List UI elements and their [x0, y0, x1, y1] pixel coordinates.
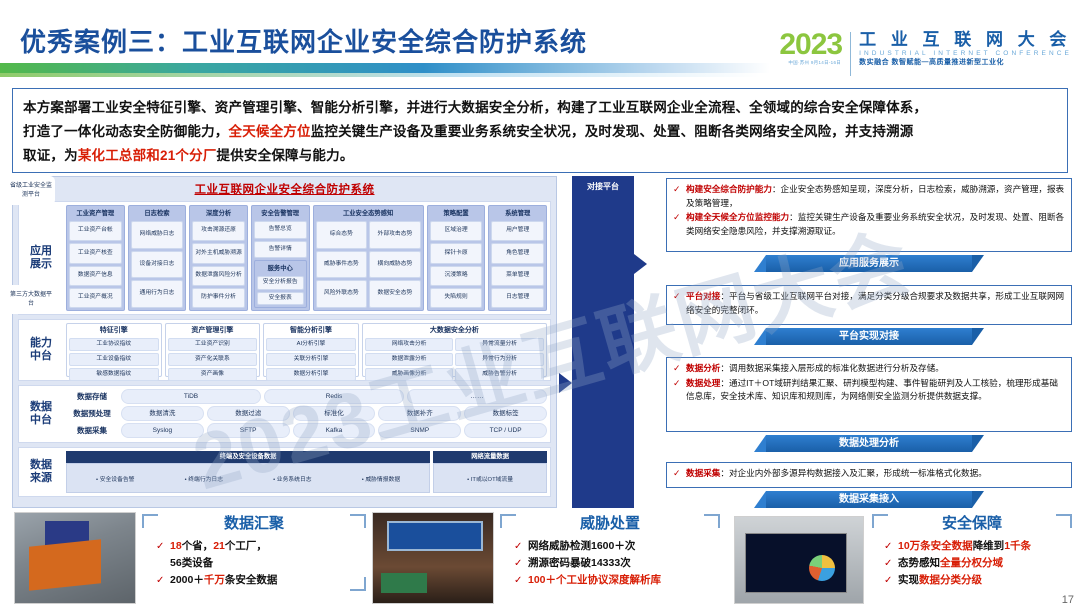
card-bullet: ✓18个省，21个工厂， — [156, 538, 366, 555]
check-icon: ✓ — [884, 538, 893, 555]
data-row-storage: 数据存储 TiDB Redis …… — [66, 389, 547, 404]
bottom-card-threat-handling: 威胁处置 ✓网络威胁检测1600＋次 ✓溯源密码暴破14333次 ✓100＋个工… — [372, 512, 720, 608]
cell[interactable]: 数据补齐 — [378, 406, 461, 421]
panel-banner-data-collection: 数据采集接入 — [766, 491, 972, 508]
card-bullet: ✓网络威胁检测1600＋次 — [514, 538, 720, 555]
check-icon: ✓ — [673, 290, 682, 317]
photo-control-room — [372, 512, 494, 604]
layer-label-data-platform: 数据中台 — [19, 386, 63, 442]
abstract-highlight-2: 某化工总部和21个分厂 — [78, 148, 217, 163]
right-panel-3: ✓ 数据分析：调用数据采集接入层形成的标准化数据进行分析及存储。 ✓ 数据处理：… — [666, 357, 1072, 452]
docking-platform-column: 对接平台 — [572, 176, 634, 508]
abstract-line-2: 打造了一体化动态安全防御能力，全天候全方位监控关键生产设备及重要业务系统安全状况… — [23, 120, 1057, 144]
cell[interactable]: 菜单管理 — [491, 266, 544, 286]
cell[interactable]: …… — [407, 389, 547, 404]
bracket-top-right — [350, 514, 366, 528]
cell[interactable]: 设备对接日志 — [131, 251, 184, 279]
docking-card-thirdparty[interactable]: 第三方大数据平台 — [7, 285, 55, 314]
card-bullet: ✓溯源密码暴破14333次 — [514, 555, 720, 572]
layer-capability-platform: 能力中台 特征引擎 工业协议指纹 工业设备指纹 敏感数据指纹 资产管理引擎 工业… — [18, 319, 551, 381]
group-bigdata-security-analysis: 大数据安全分析 网络攻击分析 数据泄露分析 威胁画像分析 异常流量分析 异常行为… — [362, 323, 547, 377]
cell[interactable]: 敏感数据指纹 — [69, 368, 159, 381]
group-deep-analysis: 深度分析 攻击溯源还原 对外主机威胁溯源 数据泄露风险分析 防护事件分析 — [189, 205, 248, 311]
check-icon: ✓ — [673, 377, 682, 404]
cell[interactable]: 告警总览 — [254, 221, 307, 239]
source-group-network-traffic: 网络流量数据 IT或以OT域流量 — [433, 451, 547, 493]
photo-video-wall — [734, 516, 864, 604]
card-bullet: ✓10万条安全数据降维到1千条 — [884, 538, 1072, 555]
cell[interactable]: 区域治理 — [430, 221, 483, 241]
bullet-item: ✓ 构建安全综合防护能力：企业安全态势感知呈现，深度分析，日志检索，威胁溯源，资… — [673, 183, 1065, 210]
group-asset-management: 工业资产管理 工业资产台帐 工业资产核查 数据资产信息 工业资产概况 — [66, 205, 125, 311]
check-icon: ✓ — [673, 362, 682, 376]
card-bullet: ✓态势感知全量分权分域 — [884, 555, 1072, 572]
cell[interactable]: 网络攻击分析 — [365, 338, 454, 351]
diagram-title: 工业互联网企业安全综合防护系统 — [13, 177, 556, 197]
check-icon: ✓ — [884, 555, 893, 572]
cell[interactable]: 安全分析报告 — [257, 276, 304, 289]
cell[interactable]: 外部攻击态势 — [369, 221, 421, 249]
right-panel-1: ✓ 构建安全综合防护能力：企业安全态势感知呈现，深度分析，日志检索，威胁溯源，资… — [666, 178, 1072, 272]
card-bullet: ✓2000＋千万条安全数据 — [156, 572, 366, 589]
right-panel-4: ✓ 数据采集：对企业内外部多源异构数据接入及汇聚，形成统一标准格式化数据。 数据… — [666, 462, 1072, 508]
layer-label-capability: 能力中台 — [19, 320, 63, 380]
check-icon: ✓ — [514, 538, 523, 555]
cell[interactable]: 防护事件分析 — [192, 288, 245, 308]
group-system-management: 系统管理 用户管理 角色管理 菜单管理 日志管理 — [488, 205, 547, 311]
bracket-top-left — [872, 514, 888, 528]
cell[interactable]: 角色管理 — [491, 243, 544, 263]
cell[interactable]: 异常流量分析 — [455, 338, 544, 351]
cell[interactable]: 数据分析引擎 — [266, 368, 356, 381]
abstract-box: 本方案部署工业安全特征引擎、资产管理引擎、智能分析引擎，并进行大数据安全分析，构… — [12, 88, 1068, 173]
group-intelligent-analysis-engine: 智能分析引擎 AI分析引擎 关联分析引擎 数据分析引擎 — [263, 323, 359, 377]
cell[interactable]: 数据清洗 — [121, 406, 204, 421]
panel-banner-data-processing: 数据处理分析 — [766, 435, 972, 452]
group-asset-engine: 资产管理引擎 工业资产识别 资产化关联系 资产画像 — [165, 323, 261, 377]
bracket-top-right — [704, 514, 720, 528]
group-feature-engine: 特征引擎 工业协议指纹 工业设备指纹 敏感数据指纹 — [66, 323, 162, 377]
card-bullet: ✓实现数据分类分级 — [884, 572, 1072, 589]
layer-label-data-sources: 数据来源 — [19, 448, 63, 496]
cell[interactable]: 工业资产概况 — [69, 288, 122, 308]
check-icon: ✓ — [514, 572, 523, 589]
abstract-line-1: 本方案部署工业安全特征引擎、资产管理引擎、智能分析引擎，并进行大数据安全分析，构… — [23, 96, 1057, 120]
card-bullet: ✓100＋个工业协议深度解析库 — [514, 572, 720, 589]
cell[interactable]: 对外主机威胁溯源 — [192, 243, 245, 263]
group-situation-awareness: 工业安全态势感知 综合态势 威胁事件态势 风险外联态势 外部攻击态势 横向威胁态… — [313, 205, 424, 311]
cell[interactable]: 威胁事件态势 — [316, 251, 368, 279]
cell[interactable]: 数据安全态势 — [369, 280, 421, 308]
cell[interactable]: 通用行为日志 — [131, 280, 184, 308]
cell[interactable]: Syslog — [121, 423, 204, 438]
data-row-preprocess: 数据预处理 数据清洗 数据过滤 标准化 数据补齐 数据标签 — [66, 406, 547, 421]
logo-divider — [850, 32, 851, 76]
logo-year-subtitle: 中国·苏州 9月14日-16日 — [779, 60, 850, 66]
cell[interactable]: 用户管理 — [491, 221, 544, 241]
bullet-item: ✓ 数据采集：对企业内外部多源异构数据接入及汇聚，形成统一标准格式化数据。 — [673, 467, 1065, 481]
page-number: 17 — [1062, 594, 1074, 606]
data-row-collect: 数据采集 Syslog SFTP Kafka SNMP TCP / UDP — [66, 423, 547, 438]
right-panel-2: ✓ 平台对接：平台与省级工业互联网平台对接，满足分类分级合规要求及数据共享，形成… — [666, 285, 1072, 345]
cell[interactable]: 综合态势 — [316, 221, 368, 249]
layer-data-sources: 数据来源 终端及安全设备数据 安全设备告警 终端行为日志 业务系统日志 威胁情报… — [18, 447, 551, 497]
check-icon: ✓ — [884, 572, 893, 589]
logo-title-en: INDUSTRIAL INTERNET CONFERENCE — [859, 49, 1072, 58]
cell[interactable]: 资产画像 — [168, 368, 258, 381]
bracket-bottom-right — [350, 577, 366, 591]
cell[interactable]: 威胁告警分析 — [455, 368, 544, 381]
cell[interactable]: SNMP — [378, 423, 461, 438]
arrow-left-icon — [559, 373, 572, 393]
cell[interactable]: 工业资产台帐 — [69, 221, 122, 241]
header-rule-gradient — [0, 63, 770, 73]
bullet-item: ✓ 数据分析：调用数据采集接入层形成的标准化数据进行分析及存储。 — [673, 362, 1065, 376]
docking-platform-header: 对接平台 — [572, 176, 634, 192]
cell[interactable]: 工业资产识别 — [168, 338, 258, 351]
cell[interactable]: 标准化 — [293, 406, 376, 421]
cell[interactable]: 威胁画像分析 — [365, 368, 454, 381]
page-title: 优秀案例三：工业互联网企业安全综合防护系统 — [20, 22, 587, 59]
layer-application-display: 应用展示 工业资产管理 工业资产台帐 工业资产核查 数据资产信息 工业资产概况 … — [18, 201, 551, 315]
group-policy-config: 策略配置 区域治理 探针卡原 沉浸策略 失陷规则 — [427, 205, 486, 311]
cell[interactable]: 资产化关联系 — [168, 353, 258, 366]
source-item[interactable]: 威胁情报数据 — [362, 474, 400, 483]
card-title: 数据汇聚 — [142, 514, 366, 534]
layer-data-platform: 数据中台 数据存储 TiDB Redis …… 数据预处理 数据清洗 数据过滤 … — [18, 385, 551, 443]
source-item[interactable]: 业务系统日志 — [273, 474, 311, 483]
check-icon: ✓ — [156, 572, 165, 589]
cell[interactable]: 探针卡原 — [430, 243, 483, 263]
bullet-item: ✓ 平台对接：平台与省级工业互联网平台对接，满足分类分级合规要求及数据共享，形成… — [673, 290, 1065, 317]
page-header: 优秀案例三：工业互联网企业安全综合防护系统 2023 中国·苏州 9月14日-1… — [0, 0, 1080, 88]
source-item[interactable]: IT或以OT域流量 — [467, 474, 513, 483]
cell[interactable]: 沉浸策略 — [430, 266, 483, 286]
cell[interactable]: 异常行为分析 — [455, 353, 544, 366]
logo-year: 2023 — [779, 30, 850, 60]
cell[interactable]: 日志管理 — [491, 288, 544, 308]
bottom-card-data-aggregation: 数据汇聚 ✓18个省，21个工厂， ✓56类设备 ✓2000＋千万条安全数据 — [14, 512, 366, 608]
card-title: 威胁处置 — [500, 514, 720, 534]
photo-factory-robot — [14, 512, 136, 604]
source-item[interactable]: 安全设备告警 — [96, 474, 134, 483]
architecture-diagram: 工业互联网企业安全综合防护系统 应用展示 工业资产管理 工业资产台帐 工业资产核… — [12, 176, 557, 508]
cell[interactable]: 工业协议指纹 — [69, 338, 159, 351]
cell[interactable]: SFTP — [207, 423, 290, 438]
check-icon: ✓ — [673, 467, 682, 481]
cell[interactable]: Redis — [264, 389, 404, 404]
cell[interactable]: 数据过滤 — [207, 406, 290, 421]
cell[interactable]: Kafka — [293, 423, 376, 438]
cell[interactable]: 工业设备指纹 — [69, 353, 159, 366]
check-icon: ✓ — [156, 538, 165, 555]
cell[interactable]: 告警详情 — [254, 241, 307, 259]
cell[interactable]: 攻击溯源还原 — [192, 221, 245, 241]
cell[interactable]: 数据标签 — [464, 406, 547, 421]
abstract-highlight-1: 全天候全方位 — [229, 124, 311, 139]
group-alarm-management: 安全告警管理 告警总览 告警详情 服务中心 安全分析报告 安全报表 — [251, 205, 310, 311]
logo-tagline: 数实融合 数智赋能—高质量推进新型工业化 — [859, 58, 1072, 68]
bullet-item: ✓ 构建全天候全方位监控能力：监控关键生产设备及重要业务系统安全状况，及时发现、… — [673, 211, 1065, 238]
cell[interactable]: 关联分析引擎 — [266, 353, 356, 366]
bracket-top-left — [142, 514, 158, 528]
card-title: 安全保障 — [872, 514, 1072, 534]
group-log-search: 日志检索 网络威胁日志 设备对接日志 通用行为日志 — [128, 205, 187, 311]
cell[interactable]: 网络威胁日志 — [131, 221, 184, 249]
cell[interactable]: 数据资产信息 — [69, 266, 122, 286]
cell[interactable]: 工业资产核查 — [69, 243, 122, 263]
panel-banner-platform-docking: 平台实现对接 — [766, 328, 972, 345]
logo-title-cn: 工 业 互 联 网 大 会 — [859, 30, 1072, 49]
cell[interactable]: TiDB — [121, 389, 261, 404]
subgroup-service-center: 服务中心 安全分析报告 安全报表 — [254, 260, 307, 308]
check-icon: ✓ — [514, 555, 523, 572]
card-bullet: ✓56类设备 — [156, 555, 366, 572]
check-icon: ✓ — [673, 183, 682, 210]
bullet-item: ✓ 数据处理：通过IT＋OT域研判结果汇聚、研判模型构建、事件智能研判及人工核验… — [673, 377, 1065, 404]
bottom-card-security-assurance: 安全保障 ✓10万条安全数据降维到1千条 ✓态势感知全量分权分域 ✓实现数据分类… — [726, 512, 1074, 608]
cell[interactable]: AI分析引擎 — [266, 338, 356, 351]
cell[interactable]: 安全报表 — [257, 292, 304, 305]
abstract-line-3: 取证，为某化工总部和21个分厂提供安全保障与能力。 — [23, 144, 1057, 168]
cell[interactable]: TCP / UDP — [464, 423, 547, 438]
source-item[interactable]: 终端行为日志 — [185, 474, 223, 483]
cell[interactable]: 风险外联态势 — [316, 280, 368, 308]
bracket-top-right — [1056, 514, 1072, 528]
source-group-endpoint: 终端及安全设备数据 安全设备告警 终端行为日志 业务系统日志 威胁情报数据 — [66, 451, 430, 493]
docking-card-provincial[interactable]: 省级工业安全监测平台 — [7, 176, 55, 205]
cell[interactable]: 失陷规则 — [430, 288, 483, 308]
panel-banner-application-service: 应用服务展示 — [766, 255, 972, 272]
arrow-right-icon — [634, 254, 647, 274]
cell[interactable]: 数据泄露分析 — [365, 353, 454, 366]
cell[interactable]: 数据泄露风险分析 — [192, 266, 245, 286]
conference-logo: 2023 中国·苏州 9月14日-16日 工 业 互 联 网 大 会 INDUS… — [779, 30, 1072, 80]
cell[interactable]: 横向威胁态势 — [369, 251, 421, 279]
header-rule-gradient-secondary — [0, 73, 760, 77]
check-icon: ✓ — [673, 211, 682, 238]
bracket-top-left — [500, 514, 516, 528]
